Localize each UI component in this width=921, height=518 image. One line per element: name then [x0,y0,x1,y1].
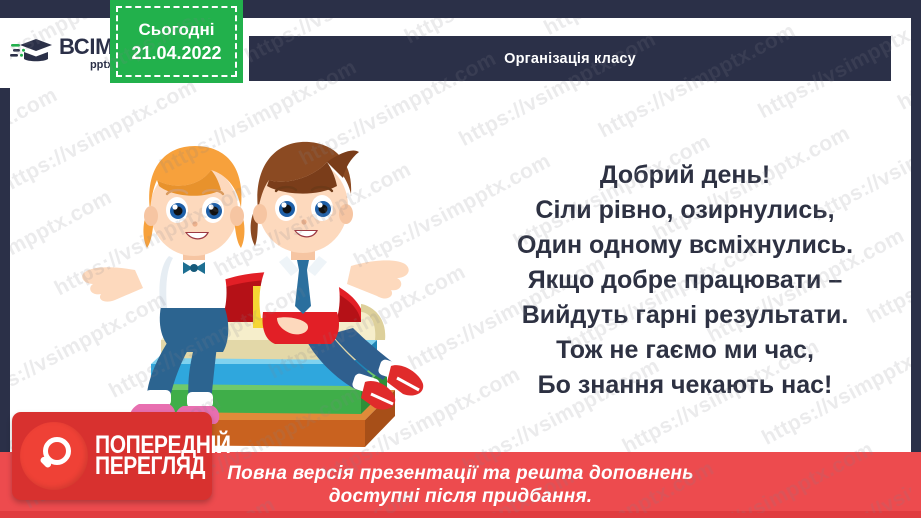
date-badge: Сьогодні 21.04.2022 [110,0,243,83]
magnifier-icon [20,422,88,490]
slide-frame: Добрий день! Сіли рівно, озирнулись, Оди… [0,0,921,518]
poem-text-block: Добрий день! Сіли рівно, озирнулись, Оди… [465,158,905,403]
graduation-cap-icon [10,35,54,71]
poem-line: Якщо добре працювати – [465,263,905,298]
poem-line: Добрий день! [465,158,905,193]
header-bar: Організація класу [249,36,891,81]
banner-line-1: Повна версія презентації та решта доповн… [227,463,693,485]
logo-name: ВСІМ [59,36,113,58]
logo-suffix: pptx [59,60,113,71]
poem-line: Тож не гаємо ми час, [465,333,905,368]
date-label: Сьогодні [139,20,215,40]
brand-logo[interactable]: ВСІМ pptx [0,18,120,88]
page-title: Організація класу [504,51,636,67]
poem-line: Бо знання чекають нас! [465,368,905,403]
preview-label: ПОПЕРЕДНІЙ ПЕРЕГЛЯД [95,435,231,478]
poem-line: Вийдуть гарні результати. [465,298,905,333]
date-value: 21.04.2022 [131,43,221,64]
logo-wordmark: ВСІМ pptx [59,36,113,71]
preview-line-2: ПЕРЕГЛЯД [95,454,231,479]
poem-line: Один одному всміхнулись. [465,228,905,263]
poem-line: Сіли рівно, озирнулись, [465,193,905,228]
banner-line-2: доступні після придбання. [329,486,593,508]
preview-badge[interactable]: ПОПЕРЕДНІЙ ПЕРЕГЛЯД [12,412,212,500]
